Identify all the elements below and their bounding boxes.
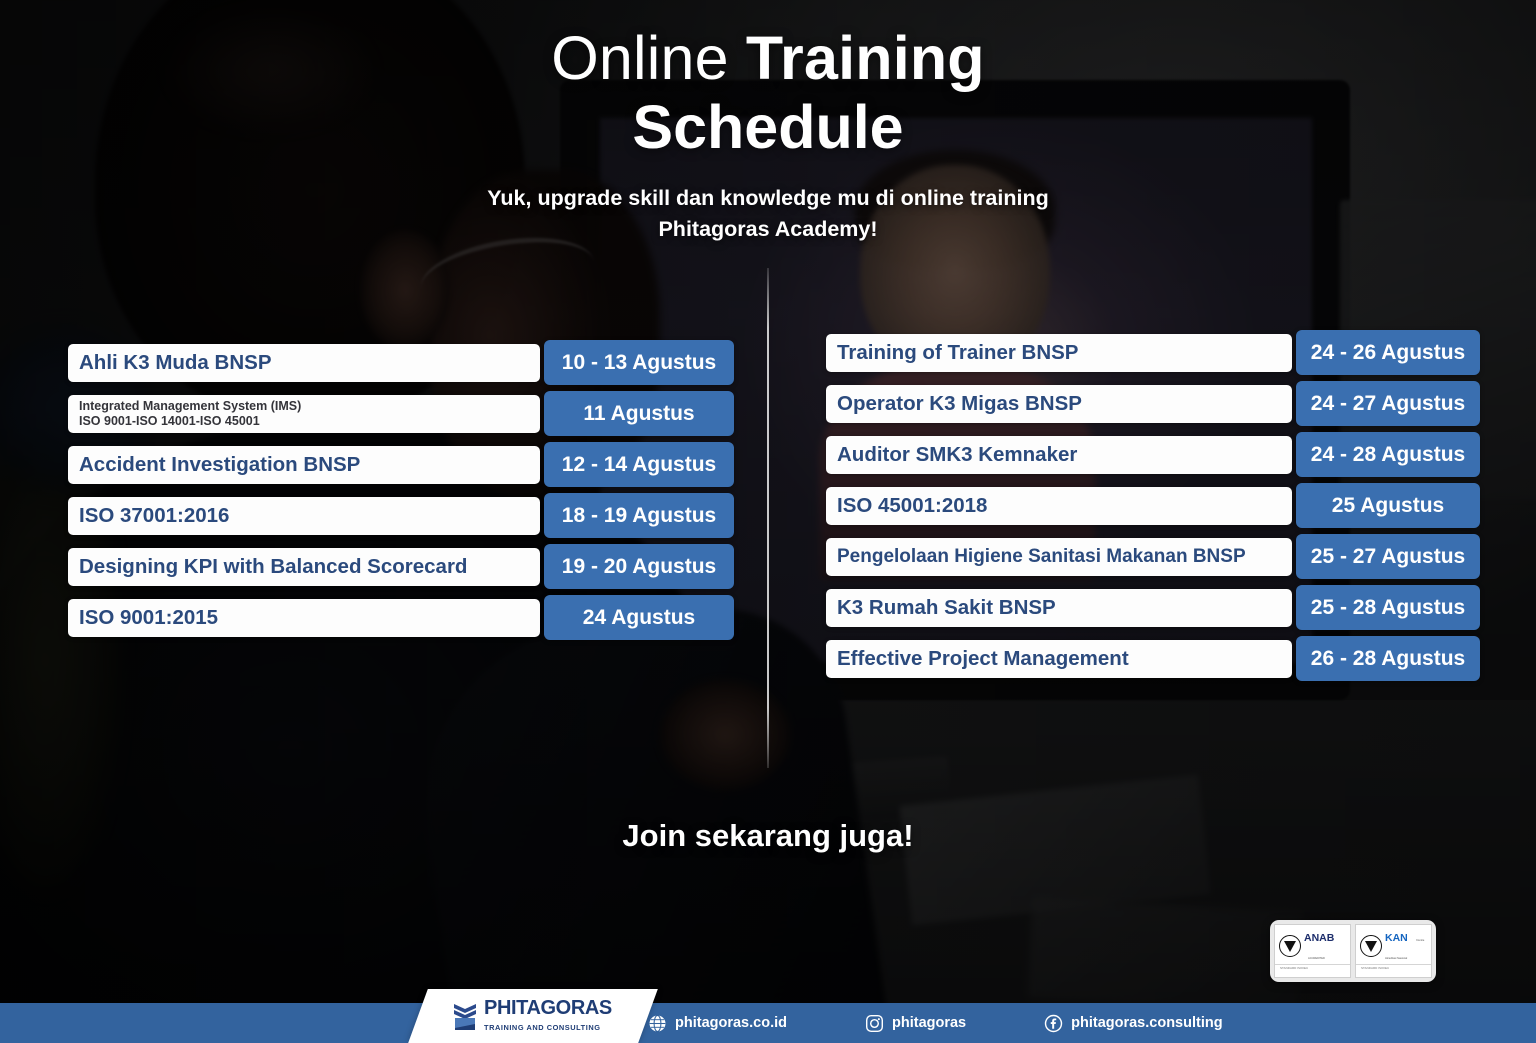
schedule-row[interactable]: K3 Rumah Sakit BNSP 25 - 28 Agustus xyxy=(826,585,1478,636)
course-name: Designing KPI with Balanced Scorecard xyxy=(68,548,540,586)
column-divider xyxy=(767,268,769,768)
course-name: Accident Investigation BNSP xyxy=(68,446,540,484)
course-date-badge: 25 Agustus xyxy=(1296,483,1480,528)
title-word-training: Training xyxy=(746,24,985,92)
social-link-instagram[interactable]: phitagoras xyxy=(865,1014,966,1033)
social-label: phitagoras xyxy=(892,1015,966,1031)
schedule-row[interactable]: Operator K3 Migas BNSP 24 - 27 Agustus xyxy=(826,381,1478,432)
course-name: ISO 37001:2016 xyxy=(68,497,540,535)
course-name: K3 Rumah Sakit BNSP xyxy=(826,589,1292,627)
course-date-badge: 24 - 27 Agustus xyxy=(1296,381,1480,426)
schedule-column-left: Ahli K3 Muda BNSP 10 - 13 Agustus Integr… xyxy=(68,340,740,646)
poster-content: Online Training Schedule Yuk, upgrade sk… xyxy=(0,0,1536,1043)
course-date-badge: 19 - 20 Agustus xyxy=(544,544,734,589)
social-link-facebook[interactable]: phitagoras.consulting xyxy=(1044,1014,1222,1033)
instagram-icon xyxy=(865,1014,884,1033)
subtitle-line-1: Yuk, upgrade skill dan knowledge mu di o… xyxy=(0,183,1536,214)
schedule-row[interactable]: Training of Trainer BNSP 24 - 26 Agustus xyxy=(826,330,1478,381)
brand-tagline: TRAINING AND CONSULTING xyxy=(484,1023,601,1032)
facebook-icon xyxy=(1044,1014,1063,1033)
course-date-badge: 24 Agustus xyxy=(544,595,734,640)
course-name: Training of Trainer BNSP xyxy=(826,334,1292,372)
schedule-row[interactable]: Ahli K3 Muda BNSP 10 - 13 Agustus xyxy=(68,340,740,391)
course-name-line-1: Integrated Management System (IMS) xyxy=(79,399,528,414)
course-date-badge: 11 Agustus xyxy=(544,391,734,436)
course-name: Auditor SMK3 Kemnaker xyxy=(826,436,1292,474)
brand-name: PHITAGORAS xyxy=(484,997,612,1019)
social-links: phitagoras.co.id phitagoras phitagoras.c… xyxy=(648,1003,1223,1043)
social-label: phitagoras.co.id xyxy=(675,1015,787,1031)
course-date-badge: 26 - 28 Agustus xyxy=(1296,636,1480,681)
call-to-action: Join sekarang juga! xyxy=(0,818,1536,854)
subtitle-line-2: Phitagoras Academy! xyxy=(0,214,1536,245)
course-name: Effective Project Management xyxy=(826,640,1292,678)
schedule-row[interactable]: ISO 37001:2016 18 - 19 Agustus xyxy=(68,493,740,544)
schedule-row[interactable]: ISO 45001:2018 25 Agustus xyxy=(826,483,1478,534)
phitagoras-logo-icon xyxy=(452,1001,478,1031)
page-title: Online Training Schedule xyxy=(0,26,1536,159)
course-name: Ahli K3 Muda BNSP xyxy=(68,344,540,382)
schedule-column-right: Training of Trainer BNSP 24 - 26 Agustus… xyxy=(826,330,1478,687)
accreditation-subtext: ACCREDITED xyxy=(1304,957,1325,960)
schedule-row[interactable]: Designing KPI with Balanced Scorecard 19… xyxy=(68,544,740,595)
course-name: Operator K3 Migas BNSP xyxy=(826,385,1292,423)
schedule-row[interactable]: ISO 9001:2015 24 Agustus xyxy=(68,595,740,646)
accreditation-mark: ANAB xyxy=(1304,932,1334,944)
accreditation-badge-kan: KAN Komite Akreditasi Nasional STANDARD … xyxy=(1355,924,1432,978)
title-word-online: Online xyxy=(551,24,729,92)
title-word-schedule: Schedule xyxy=(0,95,1536,160)
subtitle: Yuk, upgrade skill dan knowledge mu di o… xyxy=(0,183,1536,245)
schedule-row[interactable]: Accident Investigation BNSP 12 - 14 Agus… xyxy=(68,442,740,493)
course-name: ISO 45001:2018 xyxy=(826,487,1292,525)
schedule-row[interactable]: Pengelolaan Higiene Sanitasi Makanan BNS… xyxy=(826,534,1478,585)
course-date-badge: 24 - 28 Agustus xyxy=(1296,432,1480,477)
certification-seal-icon xyxy=(1360,935,1382,957)
course-name-line-2: ISO 9001-ISO 14001-ISO 45001 xyxy=(79,414,528,429)
social-label: phitagoras.consulting xyxy=(1071,1015,1222,1031)
course-date-badge: 18 - 19 Agustus xyxy=(544,493,734,538)
footer-bar: PHITAGORAS TRAINING AND CONSULTING phita… xyxy=(0,1003,1536,1043)
course-date-badge: 24 - 26 Agustus xyxy=(1296,330,1480,375)
course-date-badge: 12 - 14 Agustus xyxy=(544,442,734,487)
brand-logo[interactable]: PHITAGORAS TRAINING AND CONSULTING xyxy=(452,995,642,1037)
accreditation-badge-anab: ANAB ACCREDITED STANDARD ISO/IEC xyxy=(1274,924,1351,978)
accreditation-badges: ANAB ACCREDITED STANDARD ISO/IEC KAN Kom… xyxy=(1270,920,1436,982)
course-date-badge: 25 - 27 Agustus xyxy=(1296,534,1480,579)
course-name: Integrated Management System (IMS) ISO 9… xyxy=(68,395,540,433)
course-name: ISO 9001:2015 xyxy=(68,599,540,637)
schedule-row[interactable]: Effective Project Management 26 - 28 Agu… xyxy=(826,636,1478,687)
schedule-row[interactable]: Auditor SMK3 Kemnaker 24 - 28 Agustus xyxy=(826,432,1478,483)
course-date-badge: 25 - 28 Agustus xyxy=(1296,585,1480,630)
course-date-badge: 10 - 13 Agustus xyxy=(544,340,734,385)
schedule-row[interactable]: Integrated Management System (IMS) ISO 9… xyxy=(68,391,740,442)
social-link-website[interactable]: phitagoras.co.id xyxy=(648,1014,787,1033)
accreditation-mark: KAN xyxy=(1385,932,1408,944)
accreditation-caption: STANDARD ISO/IEC xyxy=(1275,964,1350,977)
certification-seal-icon xyxy=(1279,935,1301,957)
accreditation-caption: STANDARD ISO/IEC xyxy=(1356,964,1431,977)
course-name: Pengelolaan Higiene Sanitasi Makanan BNS… xyxy=(826,538,1292,576)
globe-icon xyxy=(648,1014,667,1033)
